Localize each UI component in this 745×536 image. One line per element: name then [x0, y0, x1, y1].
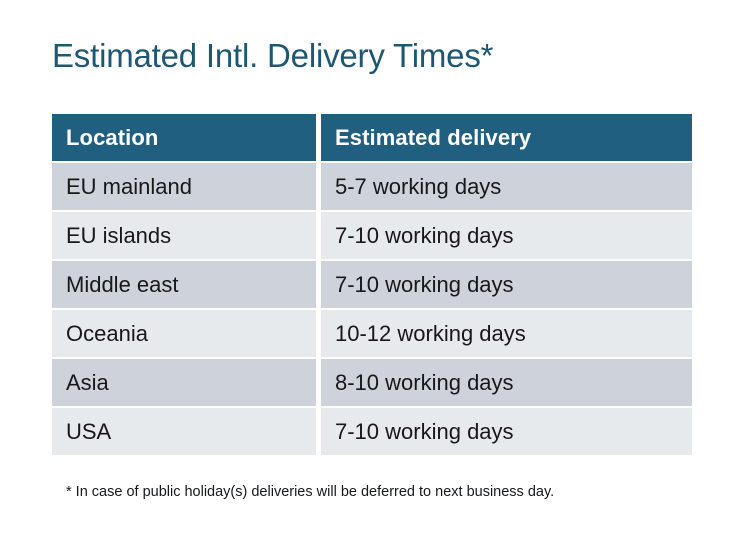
cell-estimated-delivery: 10-12 working days — [321, 310, 692, 357]
cell-location: Asia — [52, 359, 316, 406]
page-title: Estimated Intl. Delivery Times* — [52, 36, 493, 76]
table-row: EU islands 7-10 working days — [52, 212, 692, 259]
cell-location: Middle east — [52, 261, 316, 308]
cell-estimated-delivery: 7-10 working days — [321, 408, 692, 455]
cell-estimated-delivery: 7-10 working days — [321, 261, 692, 308]
delivery-times-table: Location Estimated delivery EU mainland … — [52, 114, 692, 455]
cell-estimated-delivery: 5-7 working days — [321, 163, 692, 210]
delivery-times-page: Estimated Intl. Delivery Times* Location… — [0, 0, 745, 536]
column-header-location: Location — [52, 114, 316, 161]
table-row: Oceania 10-12 working days — [52, 310, 692, 357]
cell-location: USA — [52, 408, 316, 455]
table-row: Middle east 7-10 working days — [52, 261, 692, 308]
cell-estimated-delivery: 7-10 working days — [321, 212, 692, 259]
table-row: EU mainland 5-7 working days — [52, 163, 692, 210]
table-row: USA 7-10 working days — [52, 408, 692, 455]
cell-location: EU mainland — [52, 163, 316, 210]
column-header-estimated-delivery: Estimated delivery — [321, 114, 692, 161]
table-header-row: Location Estimated delivery — [52, 114, 692, 161]
cell-location: EU islands — [52, 212, 316, 259]
cell-location: Oceania — [52, 310, 316, 357]
table-row: Asia 8-10 working days — [52, 359, 692, 406]
footnote-public-holiday: * In case of public holiday(s) deliverie… — [66, 482, 554, 502]
cell-estimated-delivery: 8-10 working days — [321, 359, 692, 406]
